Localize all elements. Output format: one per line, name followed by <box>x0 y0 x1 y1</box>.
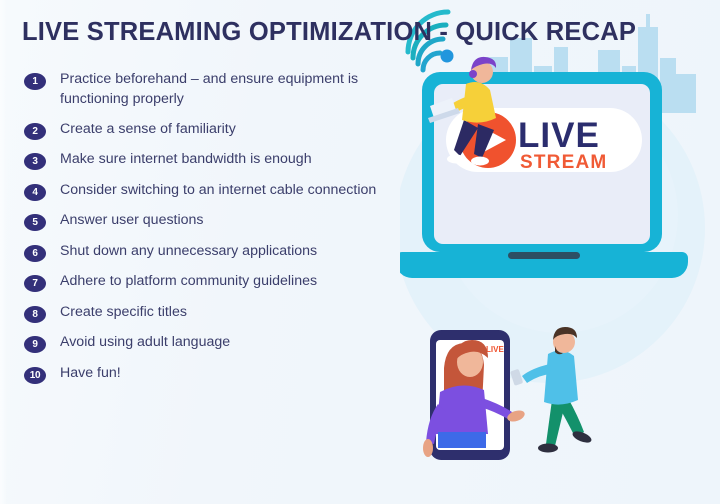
list-item-label: Consider switching to an internet cable … <box>60 181 376 201</box>
list-item: 8 Create specific titles <box>24 303 424 323</box>
list-item-label: Create a sense of familiarity <box>60 120 236 140</box>
infographic-canvas: LIVE STREAM <box>0 0 720 504</box>
phone-live-badge: LIVE <box>486 345 504 354</box>
page-left-edge <box>0 0 7 504</box>
list-item-number: 5 <box>24 214 46 231</box>
list-item: 7 Adhere to platform community guideline… <box>24 272 424 292</box>
list-item-number: 4 <box>24 184 46 201</box>
list-item-number: 8 <box>24 306 46 323</box>
list-item-label: Make sure internet bandwidth is enough <box>60 150 312 170</box>
list-item-label: Avoid using adult language <box>60 333 230 353</box>
list-item-number: 1 <box>24 73 46 90</box>
logo-stream-text: STREAM <box>520 152 607 173</box>
list-item-label: Have fun! <box>60 364 121 384</box>
recap-list: 1 Practice beforehand – and ensure equip… <box>24 70 424 394</box>
list-item: 4 Consider switching to an internet cabl… <box>24 181 424 201</box>
list-item-number: 10 <box>24 367 46 384</box>
list-item: 1 Practice beforehand – and ensure equip… <box>24 70 424 109</box>
list-item: 2 Create a sense of familiarity <box>24 120 424 140</box>
list-item-number: 2 <box>24 123 46 140</box>
list-item-number: 9 <box>24 336 46 353</box>
list-item-label: Create specific titles <box>60 303 187 323</box>
list-item: 6 Shut down any unnecessary applications <box>24 242 424 262</box>
list-item: 9 Avoid using adult language <box>24 333 424 353</box>
page-title: LIVE STREAMING OPTIMIZATION - QUICK RECA… <box>22 18 636 47</box>
list-item-label: Shut down any unnecessary applications <box>60 242 317 262</box>
list-item: 10 Have fun! <box>24 364 424 384</box>
list-item: 3 Make sure internet bandwidth is enough <box>24 150 424 170</box>
list-item: 5 Answer user questions <box>24 211 424 231</box>
list-item-number: 7 <box>24 275 46 292</box>
wifi-dot-icon <box>441 50 454 63</box>
live-stream-illustration: LIVE STREAM <box>400 0 720 504</box>
list-item-number: 6 <box>24 245 46 262</box>
list-item-label: Answer user questions <box>60 211 204 231</box>
logo-live-text: LIVE <box>518 116 600 155</box>
list-item-label: Adhere to platform community guidelines <box>60 272 317 292</box>
list-item-number: 3 <box>24 153 46 170</box>
list-item-label: Practice beforehand – and ensure equipme… <box>60 70 424 109</box>
